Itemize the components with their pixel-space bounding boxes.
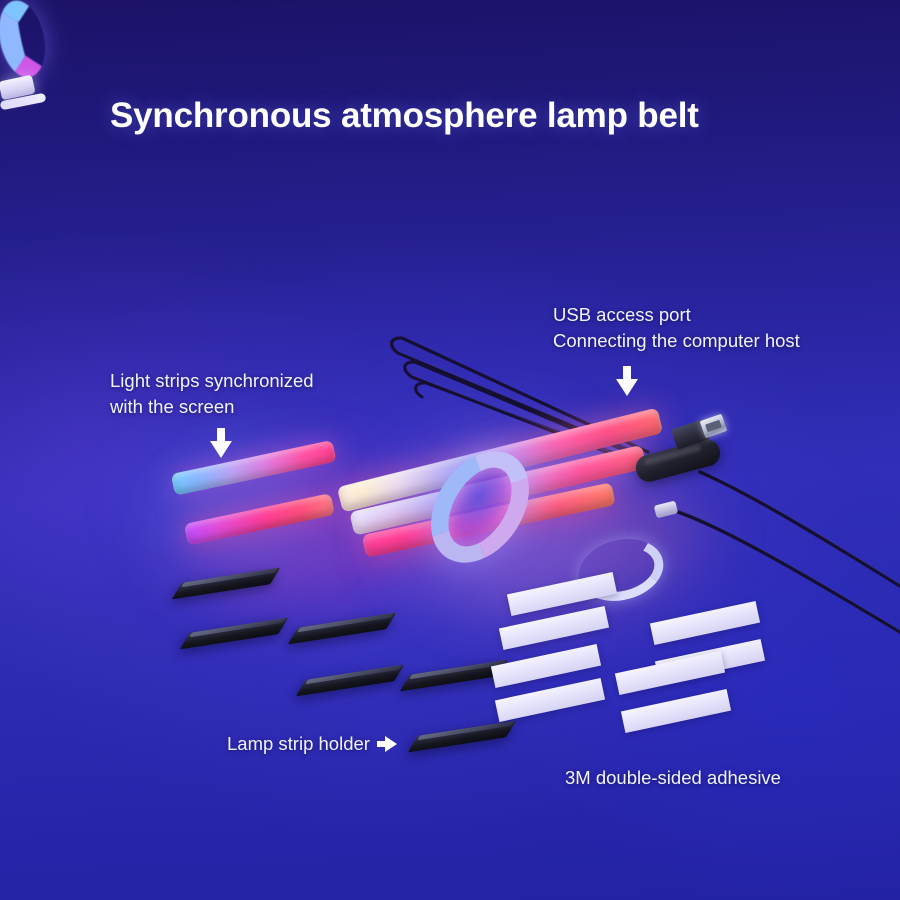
callout-line: with the screen xyxy=(110,394,314,420)
arrow-down-icon xyxy=(616,366,638,396)
product-image-canvas: Synchronous atmosphere lamp belt USB acc… xyxy=(0,0,900,900)
callout-line: Connecting the computer host xyxy=(553,328,800,354)
page-title: Synchronous atmosphere lamp belt xyxy=(110,96,699,136)
callout-line: 3M double-sided adhesive xyxy=(565,765,781,791)
callout-line: USB access port xyxy=(553,302,800,328)
arrow-right-icon xyxy=(377,736,397,752)
callout-line: Light strips synchronized xyxy=(110,368,314,394)
callout-light-strips-synchronized: Light strips synchronized with the scree… xyxy=(110,368,314,420)
callout-3m-adhesive: 3M double-sided adhesive xyxy=(565,765,781,791)
arrow-down-icon xyxy=(210,428,232,458)
arrow-head xyxy=(210,441,232,458)
arrow-head xyxy=(616,379,638,396)
arrow-head xyxy=(385,736,397,752)
callout-lamp-strip-holder: Lamp strip holder xyxy=(227,731,397,757)
callout-usb-access-port: USB access port Connecting the computer … xyxy=(553,302,800,354)
cable-long-lower xyxy=(700,472,900,586)
callout-line: Lamp strip holder xyxy=(227,731,370,757)
